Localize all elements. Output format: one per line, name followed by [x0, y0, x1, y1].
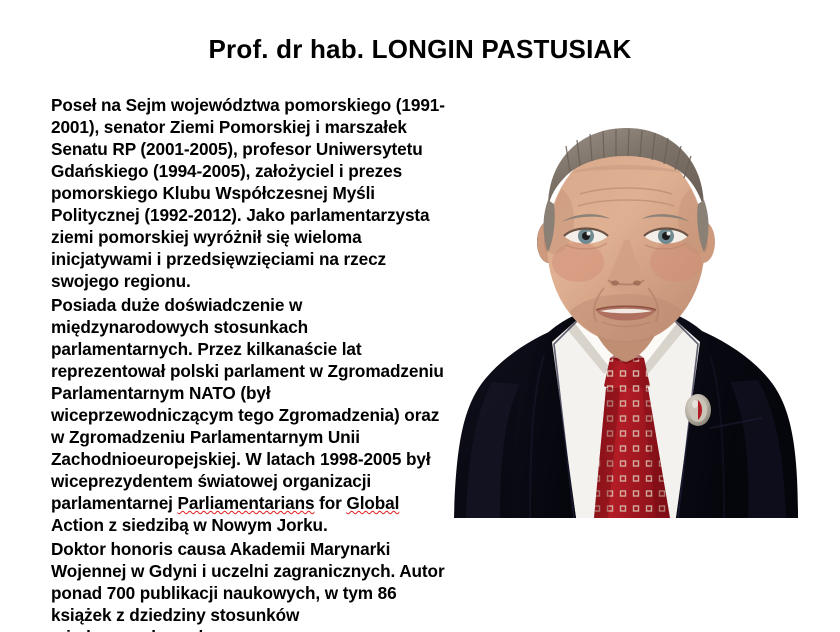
portrait-photograph [448, 112, 804, 518]
paragraph-2-part-a: Posiada duże doświadczenie w międzynarod… [51, 295, 444, 513]
biography-paragraph-3: Doktor honoris causa Akademii Marynarki … [51, 538, 451, 632]
biography-text-block: Poseł na Sejm województwa pomorskiego (1… [51, 94, 451, 632]
paragraph-2-part-b: for [314, 493, 346, 513]
page-title: Prof. dr hab. LONGIN PASTUSIAK [0, 34, 840, 65]
misspelled-word-parliamentarians: Parliamentarians [178, 493, 315, 513]
presentation-slide: Prof. dr hab. LONGIN PASTUSIAK Poseł na … [0, 0, 840, 632]
misspelled-word-global: Global [346, 493, 399, 513]
biography-paragraph-2: Posiada duże doświadczenie w międzynarod… [51, 294, 451, 536]
paragraph-2-part-c: Action z siedzibą w Nowym Jorku. [51, 515, 328, 535]
portrait-photograph-image [448, 112, 804, 518]
biography-paragraph-1: Poseł na Sejm województwa pomorskiego (1… [51, 94, 451, 292]
lapel-pin-icon [685, 394, 711, 426]
